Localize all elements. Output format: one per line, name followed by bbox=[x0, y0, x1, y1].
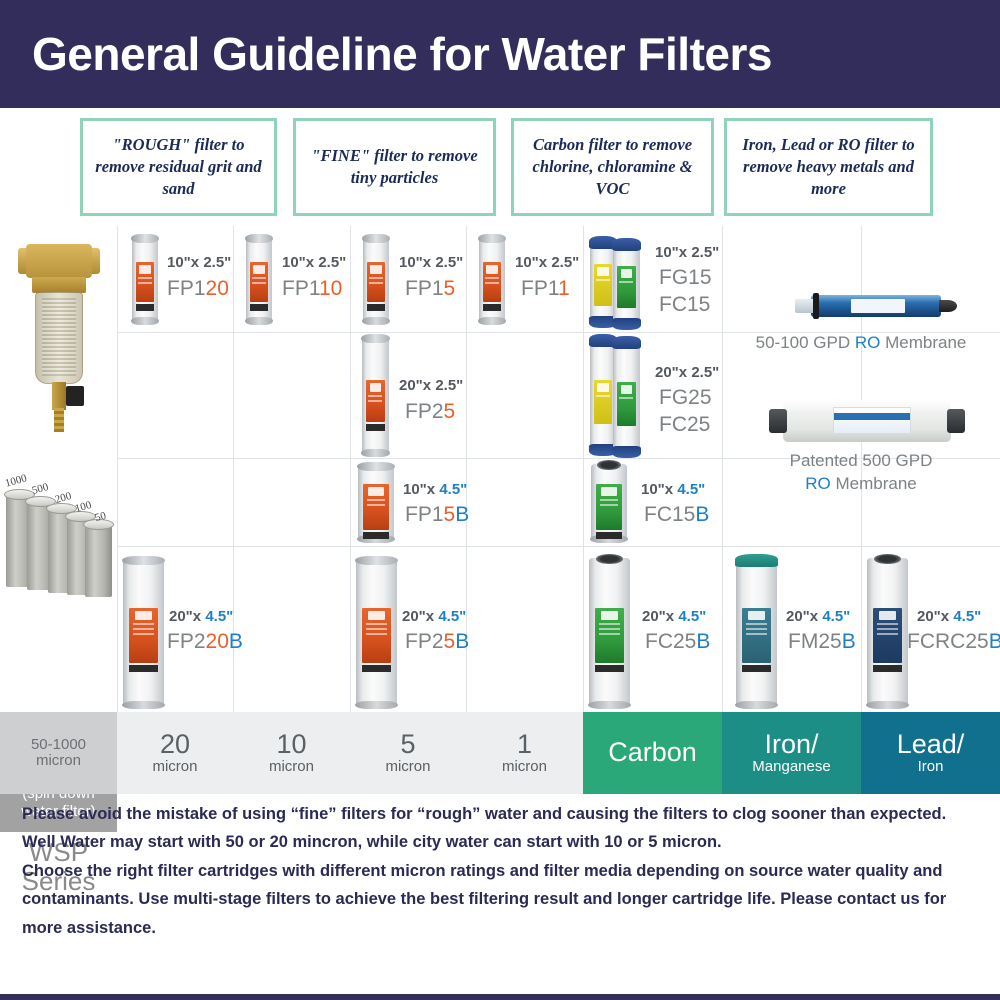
product-code-fp11: FP11 bbox=[521, 277, 570, 301]
product-cell-fp120[interactable]: 10"x 2.5" FP120 bbox=[117, 226, 233, 332]
product-cell-fp220b[interactable]: 20"x 4.5" FP220B bbox=[117, 546, 233, 712]
footer-notes: Please avoid the mistake of using “fine”… bbox=[22, 800, 982, 942]
category-box-fine: "FINE" filter to remove tiny particles bbox=[293, 118, 496, 216]
micron-value-lead: Lead/ bbox=[897, 730, 965, 759]
product-size-fp15b: 10"x 4.5" bbox=[403, 481, 467, 498]
micron-value-1: 1 bbox=[517, 730, 532, 759]
product-code-fcrc25b: FCRC25B bbox=[907, 630, 1000, 654]
footer-paragraph-2: Well Water may start with 50 or 20 mincr… bbox=[22, 828, 982, 856]
footer-paragraph-3: Choose the right filter cartridges with … bbox=[22, 857, 982, 942]
micron-cell-10[interactable]: 10 micron bbox=[233, 712, 350, 794]
micron-unit-manganese: Manganese bbox=[752, 759, 830, 775]
cartridge-image-fc15 bbox=[613, 242, 640, 326]
product-code-fp220b: FP220B bbox=[167, 630, 243, 654]
product-code-fg15: FG15 bbox=[659, 266, 712, 290]
ro-membrane-50-100-label: 50-100 GPD RO Membrane bbox=[722, 333, 1000, 353]
product-size-fc25b: 20"x 4.5" bbox=[642, 608, 706, 625]
ro-membrane-500-image bbox=[767, 400, 967, 442]
micron-unit-20: micron bbox=[152, 759, 197, 775]
micron-cell-iron-manganese[interactable]: Iron/ Manganese bbox=[722, 712, 861, 794]
product-code-fc25: FC25 bbox=[659, 413, 710, 437]
bottom-rule bbox=[0, 994, 1000, 1000]
product-size-fcrc25b: 20"x 4.5" bbox=[917, 608, 981, 625]
cartridge-image-fp25b bbox=[356, 558, 397, 706]
product-code-fc25b: FC25B bbox=[645, 630, 710, 654]
micron-unit-wsp: micron bbox=[36, 753, 81, 769]
micron-value-10: 10 bbox=[276, 730, 306, 759]
product-cell-fg15-fc15[interactable]: 10"x 2.5" FG15 FC15 bbox=[583, 226, 722, 332]
ro-membrane-500-label: Patented 500 GPD RO Membrane bbox=[722, 450, 1000, 496]
product-cell-fp15[interactable]: 10"x 2.5" FP15 bbox=[350, 226, 466, 332]
cartridge-image-fp15 bbox=[363, 236, 389, 322]
product-cell-fcrc25b[interactable]: 20"x 4.5" FCRC25B bbox=[861, 546, 1000, 712]
product-size-fp110: 10"x 2.5" bbox=[282, 254, 346, 271]
product-code-fp25b: FP25B bbox=[405, 630, 469, 654]
cartridge-image-fp15b bbox=[358, 464, 394, 540]
cartridge-image-fp120 bbox=[132, 236, 158, 322]
micron-unit-iron: Iron bbox=[918, 759, 944, 775]
micron-value-carbon: Carbon bbox=[608, 738, 697, 767]
cartridge-image-fp11 bbox=[479, 236, 505, 322]
cartridge-image-fc25 bbox=[613, 340, 640, 454]
product-code-fp15: FP15 bbox=[405, 277, 455, 301]
micron-cell-carbon[interactable]: Carbon bbox=[583, 712, 722, 794]
micron-value-5: 5 bbox=[400, 730, 415, 759]
product-cell-fc25b[interactable]: 20"x 4.5" FC25B bbox=[583, 546, 722, 712]
micron-rating-bar: 50-1000 micron 20 micron 10 micron 5 mic… bbox=[0, 712, 1000, 794]
product-size-fg15: 10"x 2.5" bbox=[655, 244, 719, 261]
cartridge-image-fc15b bbox=[591, 464, 627, 540]
product-size-fp25b: 20"x 4.5" bbox=[402, 608, 466, 625]
micron-value-20: 20 bbox=[160, 730, 190, 759]
product-size-fp220b: 20"x 4.5" bbox=[169, 608, 233, 625]
spin-down-filter-image bbox=[18, 234, 100, 439]
micron-cell-1[interactable]: 1 micron bbox=[466, 712, 583, 794]
micron-cell-wsp[interactable]: 50-1000 micron bbox=[0, 712, 117, 794]
product-size-fp15: 10"x 2.5" bbox=[399, 254, 463, 271]
micron-unit-5: micron bbox=[385, 759, 430, 775]
micron-value-wsp: 50-1000 bbox=[31, 737, 86, 753]
micron-unit-1: micron bbox=[502, 759, 547, 775]
product-code-fp120: FP120 bbox=[167, 277, 229, 301]
category-label-fine: "FINE" filter to remove tiny particles bbox=[296, 145, 493, 189]
product-code-fp25: FP25 bbox=[405, 400, 455, 424]
product-code-fc15b: FC15B bbox=[644, 503, 709, 527]
footer-paragraph-1: Please avoid the mistake of using “fine”… bbox=[22, 800, 982, 828]
category-label-carbon: Carbon filter to remove chlorine, chlora… bbox=[514, 134, 711, 199]
product-cell-fc15b[interactable]: 10"x 4.5" FC15B bbox=[583, 458, 722, 546]
product-code-fc15: FC15 bbox=[659, 293, 710, 317]
cartridge-image-fp25 bbox=[362, 336, 389, 454]
product-cell-fp15b[interactable]: 10"x 4.5" FP15B bbox=[350, 458, 466, 546]
title-banner: General Guideline for Water Filters bbox=[0, 0, 1000, 108]
product-cell-fp11[interactable]: 10"x 2.5" FP11 bbox=[466, 226, 583, 332]
micron-value-iron: Iron/ bbox=[764, 730, 818, 759]
product-code-fp15b: FP15B bbox=[405, 503, 469, 527]
product-cell-fg25-fc25[interactable]: 20"x 2.5" FG25 FC25 bbox=[583, 332, 722, 458]
category-box-iron: Iron, Lead or RO filter to remove heavy … bbox=[724, 118, 933, 216]
category-box-carbon: Carbon filter to remove chlorine, chlora… bbox=[511, 118, 714, 216]
mesh-number-500: 500 bbox=[31, 481, 50, 497]
wsp-series-column: 1000 500 200 100 50 (spin down water fil… bbox=[0, 226, 117, 712]
cartridge-image-fp220b bbox=[123, 558, 164, 706]
mesh-screens-image: 1000 500 200 100 50 bbox=[2, 471, 116, 591]
micron-cell-20[interactable]: 20 micron bbox=[117, 712, 233, 794]
product-cell-fp110[interactable]: 10"x 2.5" FP110 bbox=[233, 226, 350, 332]
micron-cell-5[interactable]: 5 micron bbox=[350, 712, 466, 794]
cartridge-image-fc25b bbox=[589, 558, 630, 706]
mesh-number-1000: 1000 bbox=[4, 472, 28, 490]
micron-unit-10: micron bbox=[269, 759, 314, 775]
product-code-fp110: FP110 bbox=[282, 277, 342, 301]
product-size-fp120: 10"x 2.5" bbox=[167, 254, 231, 271]
ro-membrane-50-100-image bbox=[789, 293, 963, 319]
product-size-fp11: 10"x 2.5" bbox=[515, 254, 579, 271]
cartridge-image-fp110 bbox=[246, 236, 272, 322]
cartridge-image-fm25b bbox=[736, 558, 777, 706]
product-size-fg25: 20"x 2.5" bbox=[655, 364, 719, 381]
product-size-fc15b: 10"x 4.5" bbox=[641, 481, 705, 498]
product-cell-fm25b[interactable]: 20"x 4.5" FM25B bbox=[722, 546, 861, 712]
product-cell-fp25[interactable]: 20"x 2.5" FP25 bbox=[350, 332, 466, 458]
product-code-fg25: FG25 bbox=[659, 386, 712, 410]
category-label-iron: Iron, Lead or RO filter to remove heavy … bbox=[727, 134, 930, 199]
product-code-fm25b: FM25B bbox=[788, 630, 856, 654]
product-size-fp25: 20"x 2.5" bbox=[399, 377, 463, 394]
cartridge-image-fcrc25b bbox=[867, 558, 908, 706]
product-cell-fp25b[interactable]: 20"x 4.5" FP25B bbox=[350, 546, 466, 712]
product-size-fm25b: 20"x 4.5" bbox=[786, 608, 850, 625]
page-title: General Guideline for Water Filters bbox=[32, 27, 772, 81]
micron-cell-lead-iron[interactable]: Lead/ Iron bbox=[861, 712, 1000, 794]
category-label-rough: "ROUGH" filter to remove residual grit a… bbox=[83, 134, 274, 199]
category-box-rough: "ROUGH" filter to remove residual grit a… bbox=[80, 118, 277, 216]
